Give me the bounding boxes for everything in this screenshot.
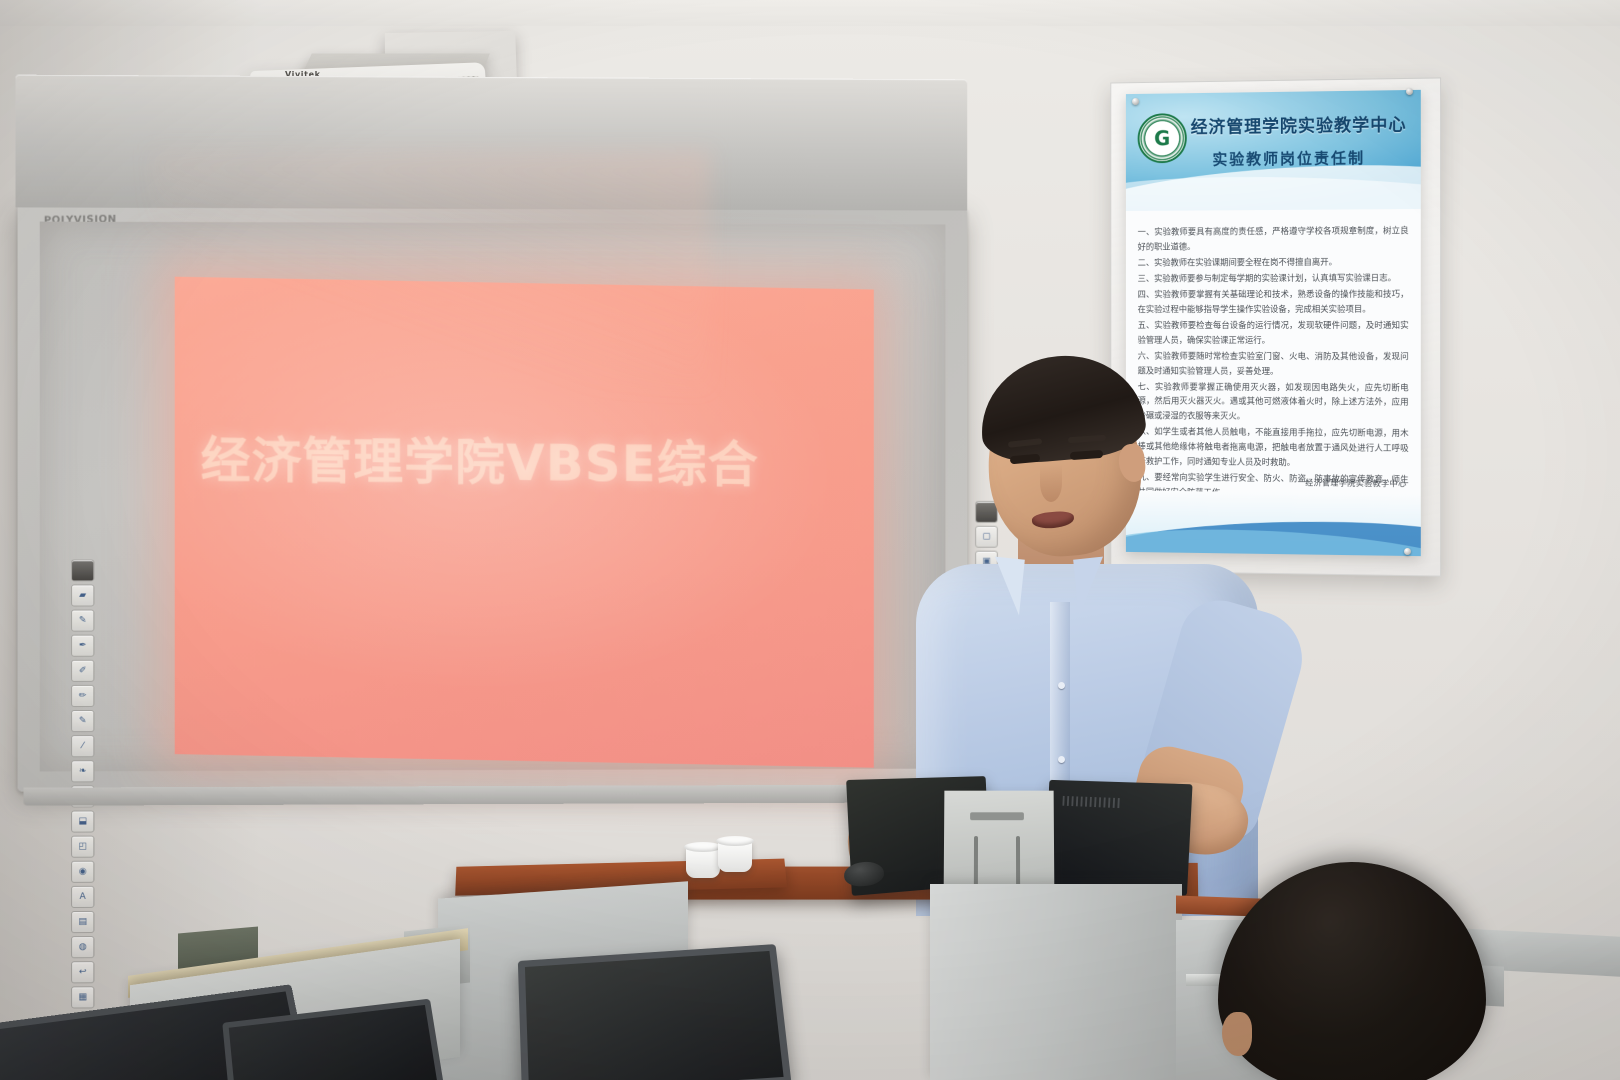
text-icon[interactable]: A (71, 886, 94, 908)
poster-item: 二、实验教师在实验课期间要全程在岗不得擅自离开。 (1138, 254, 1409, 270)
shirt-collar (1073, 557, 1109, 616)
poster-title-line2: 实验教师岗位责任制 (1212, 146, 1414, 169)
pen-blue-icon[interactable]: ✎ (71, 610, 94, 632)
poster-header: G 经济管理学院实验教学中心 实验教师岗位责任制 (1126, 90, 1421, 211)
speaker-grille-icon (1062, 796, 1119, 808)
whiteboard-surface[interactable]: 经济管理学院VBSE综合 ▰ ✎ ✒ ✐ ✏ ✎ ⁄ ❧ ✑ ⬓ ◰ ◉ A ▤… (40, 222, 946, 772)
shape-icon[interactable]: ◰ (71, 836, 94, 858)
projected-slide: 经济管理学院VBSE综合 (175, 277, 874, 768)
whiteboard-pen-tray (24, 784, 962, 805)
undo-icon[interactable]: ↩ (71, 961, 94, 983)
color-icon[interactable]: ◍ (71, 936, 94, 958)
slide-title: 经济管理学院VBSE综合 (201, 420, 860, 497)
spotlight-icon[interactable]: ◉ (71, 861, 94, 883)
poster-item: 一、实验教师要具有高度的责任感，严格遵守学校各项规章制度，树立良好的职业道德。 (1138, 223, 1409, 254)
panel-slot (970, 812, 1024, 820)
shirt-collar (989, 557, 1025, 616)
select-icon[interactable] (71, 559, 94, 581)
poster-item: 三、实验教师要参与制定每学期的实验课计划，认真填写实验课日志。 (1138, 270, 1409, 286)
poster-signature: 经济管理学院实验教学中心 (1305, 477, 1406, 489)
shirt-button (1058, 756, 1065, 763)
interactive-whiteboard[interactable]: POLYVISION 经济管理学院VBSE综合 ▰ ✎ ✒ ✐ ✏ ✎ ⁄ ❧ … (18, 203, 968, 791)
poster-item: 五、实验教师要检查每台设备的运行情况，发现软硬件问题，及时通知实验管理人员，确保… (1138, 318, 1409, 348)
highlighter-icon[interactable]: ⁄ (71, 735, 94, 757)
curtain-icon[interactable]: ▦ (71, 986, 94, 1008)
pen-green-icon[interactable]: ✒ (71, 635, 94, 657)
lectern-right-monitor[interactable] (1044, 780, 1192, 896)
left-tool-palette[interactable]: ▰ ✎ ✒ ✐ ✏ ✎ ⁄ ❧ ✑ ⬓ ◰ ◉ A ▤ ◍ ↩ ▦ (71, 559, 94, 1008)
lectern-control-panel[interactable] (944, 791, 1055, 898)
student-ear (1222, 1012, 1252, 1056)
pencil-icon[interactable]: ✏ (71, 685, 94, 707)
lectern-cabinet (930, 884, 1182, 1080)
paper-cup (686, 846, 720, 878)
poster-pin (1406, 88, 1413, 95)
brush-icon[interactable]: ❧ (71, 760, 94, 782)
ceiling-edge (0, 0, 1620, 26)
presenter-nose (1040, 464, 1062, 502)
shirt-button (1058, 682, 1065, 689)
stamp-icon[interactable]: ⬓ (71, 810, 94, 832)
poster-pin (1404, 548, 1411, 555)
flip-up-monitor[interactable] (518, 944, 792, 1080)
marker-icon[interactable]: ✎ (71, 710, 94, 732)
university-emblem-icon: G (1138, 113, 1187, 163)
note-icon[interactable]: ▤ (71, 911, 94, 933)
poster-pin (1132, 98, 1139, 105)
eraser-icon[interactable]: ▰ (71, 584, 94, 606)
poster-title-line1: 经济管理学院实验教学中心 (1191, 110, 1415, 138)
classroom-photo-scene: Vivitek vivitek POLYVISION 经济管理学院VBSE综合 … (0, 0, 1620, 1080)
poster-item: 四、实验教师要掌握有关基础理论和技术，熟悉设备的操作技能和技巧，在实验过程中能够… (1138, 287, 1409, 317)
paper-cup (718, 840, 752, 872)
pen-teal-icon[interactable]: ✐ (71, 660, 94, 682)
